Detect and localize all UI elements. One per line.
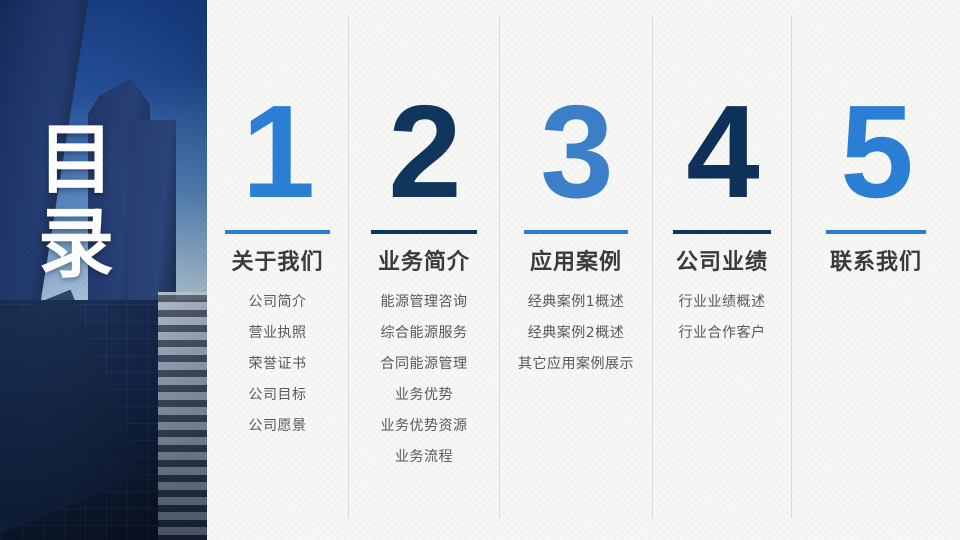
cover-photo-panel: 目录 — [0, 0, 207, 540]
list-item[interactable]: 合同能源管理 — [349, 356, 499, 372]
list-item[interactable]: 经典案例2概述 — [500, 325, 652, 341]
list-item[interactable]: 能源管理咨询 — [349, 294, 499, 310]
list-item[interactable]: 综合能源服务 — [349, 325, 499, 341]
toc-heading-1[interactable]: 关于我们 — [207, 248, 348, 278]
list-item[interactable]: 荣誉证书 — [207, 356, 348, 372]
toc-column-5[interactable]: 5 联系我们 — [792, 0, 960, 540]
toc-heading-3[interactable]: 应用案例 — [500, 248, 652, 278]
toc-number-3: 3 — [500, 86, 652, 218]
page-title: 目录 — [38, 118, 168, 286]
toc-heading-2[interactable]: 业务简介 — [349, 248, 499, 278]
toc-items-2: 能源管理咨询 综合能源服务 合同能源管理 业务优势 业务优势资源 业务流程 — [349, 294, 499, 480]
toc-column-2[interactable]: 2 业务简介 能源管理咨询 综合能源服务 合同能源管理 业务优势 业务优势资源 … — [349, 0, 499, 540]
toc-accent-bar-5 — [826, 230, 926, 234]
toc-items-1: 公司简介 营业执照 荣誉证书 公司目标 公司愿景 — [207, 294, 348, 449]
list-item[interactable]: 行业业绩概述 — [653, 294, 791, 310]
toc-heading-4[interactable]: 公司业绩 — [653, 248, 791, 278]
toc-number-1: 1 — [207, 86, 348, 218]
list-item[interactable]: 公司愿景 — [207, 418, 348, 434]
toc-accent-bar-1 — [225, 230, 330, 234]
toc-number-2: 2 — [349, 86, 499, 218]
toc-column-1[interactable]: 1 关于我们 公司简介 营业执照 荣誉证书 公司目标 公司愿景 — [207, 0, 348, 540]
toc-column-3[interactable]: 3 应用案例 经典案例1概述 经典案例2概述 其它应用案例展示 — [500, 0, 652, 540]
toc-heading-5[interactable]: 联系我们 — [792, 248, 960, 278]
toc-columns: 1 关于我们 公司简介 营业执照 荣誉证书 公司目标 公司愿景 2 业务简介 能… — [207, 0, 960, 540]
toc-items-3: 经典案例1概述 经典案例2概述 其它应用案例展示 — [500, 294, 652, 387]
list-item[interactable]: 公司目标 — [207, 387, 348, 403]
list-item[interactable]: 营业执照 — [207, 325, 348, 341]
toc-number-5: 5 — [792, 86, 960, 218]
list-item[interactable]: 业务优势 — [349, 387, 499, 403]
list-item[interactable]: 其它应用案例展示 — [500, 356, 652, 372]
toc-accent-bar-3 — [524, 230, 628, 234]
toc-number-4: 4 — [653, 86, 791, 218]
toc-items-4: 行业业绩概述 行业合作客户 — [653, 294, 791, 356]
list-item[interactable]: 行业合作客户 — [653, 325, 791, 341]
list-item[interactable]: 经典案例1概述 — [500, 294, 652, 310]
toc-accent-bar-2 — [371, 230, 477, 234]
toc-column-4[interactable]: 4 公司业绩 行业业绩概述 行业合作客户 — [653, 0, 791, 540]
list-item[interactable]: 业务流程 — [349, 449, 499, 465]
slide-root: 目录 1 关于我们 公司简介 营业执照 荣誉证书 公司目标 公司愿景 2 业务简… — [0, 0, 960, 540]
list-item[interactable]: 业务优势资源 — [349, 418, 499, 434]
list-item[interactable]: 公司简介 — [207, 294, 348, 310]
toc-accent-bar-4 — [673, 230, 771, 234]
